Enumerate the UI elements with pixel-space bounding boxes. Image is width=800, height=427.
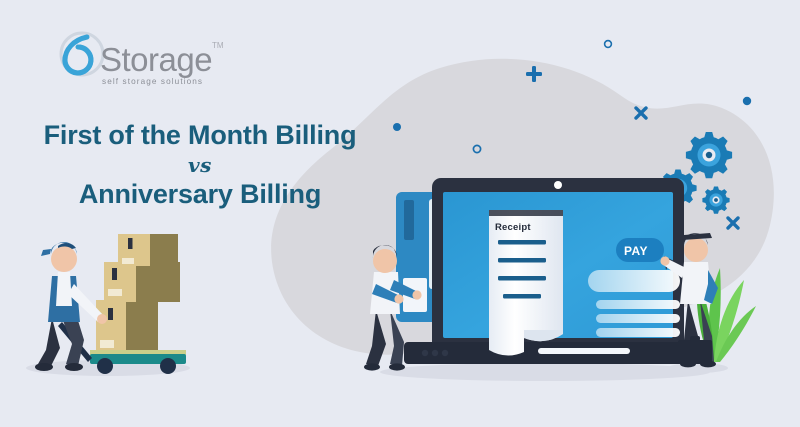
gear-icon-small: [702, 187, 729, 214]
logo-six-mark: [61, 33, 103, 75]
headline-line-first-of-month: First of the Month Billing: [0, 118, 400, 153]
dot-decoration-2: [743, 97, 751, 105]
logo-tagline: self storage solutions: [102, 77, 203, 86]
gear-icon-large: [686, 132, 732, 178]
brand-logo[interactable]: Storage TM self storage solutions: [46, 28, 226, 90]
gear-icon-medium: [659, 170, 696, 207]
billing-comparison-banner: Storage TM self storage solutions First …: [0, 0, 800, 427]
logo-artwork: Storage TM self storage solutions: [46, 28, 226, 90]
logo-wordmark: Storage: [100, 41, 212, 78]
headline-line-vs: vs: [0, 153, 400, 177]
headline-block: First of the Month Billing vs Anniversar…: [0, 118, 400, 211]
headline-line-anniversary: Anniversary Billing: [0, 177, 400, 212]
logo-trademark: TM: [212, 41, 224, 50]
